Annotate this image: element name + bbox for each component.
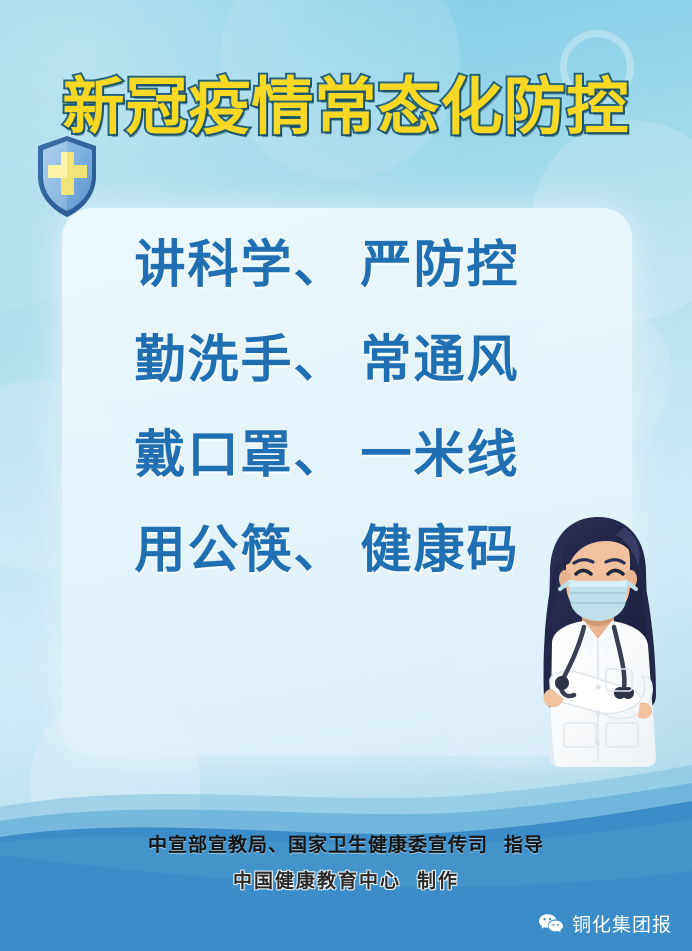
slogan-right: 健康码 bbox=[361, 521, 520, 580]
credit-org-1: 中宣部宣教局、国家卫生健康委宣传司 bbox=[148, 834, 488, 856]
page-title: 新冠疫情常态化防控 bbox=[62, 74, 629, 139]
footer-credits: 中宣部宣教局、国家卫生健康委宣传司指导 中国健康教育中心制作 bbox=[0, 830, 692, 893]
health-poster: 新冠疫情常态化防控 讲科学、严防控 勤洗手、常通风 戴口罩、一米线 用公筷、健康… bbox=[0, 0, 692, 951]
credit-org-2: 中国健康教育中心 bbox=[233, 870, 401, 892]
slogan-left: 戴口罩、 bbox=[134, 426, 346, 485]
watermark-label: 铜化集团报 bbox=[572, 910, 672, 937]
slogan-right: 常通风 bbox=[361, 331, 520, 390]
slogan-left: 用公筷、 bbox=[134, 521, 346, 580]
credit-line-guidance: 中宣部宣教局、国家卫生健康委宣传司指导 bbox=[0, 830, 692, 857]
shield-cross-icon bbox=[30, 132, 104, 220]
slogan-line-2: 勤洗手、常通风 bbox=[62, 335, 592, 386]
credit-role-2: 制作 bbox=[417, 870, 459, 892]
credit-line-production: 中国健康教育中心制作 bbox=[0, 866, 692, 893]
slogan-left: 勤洗手、 bbox=[134, 331, 346, 390]
title-container: 新冠疫情常态化防控 bbox=[0, 74, 692, 139]
slogan-right: 严防控 bbox=[361, 236, 520, 295]
slogan-line-3: 戴口罩、一米线 bbox=[62, 430, 592, 481]
credit-role-1: 指导 bbox=[504, 834, 544, 856]
wechat-icon bbox=[538, 913, 564, 935]
slogan-right: 一米线 bbox=[361, 426, 520, 485]
slogan-line-1: 讲科学、严防控 bbox=[62, 240, 592, 291]
slogan-left: 讲科学、 bbox=[134, 236, 346, 295]
watermark: 铜化集团报 bbox=[538, 910, 672, 937]
